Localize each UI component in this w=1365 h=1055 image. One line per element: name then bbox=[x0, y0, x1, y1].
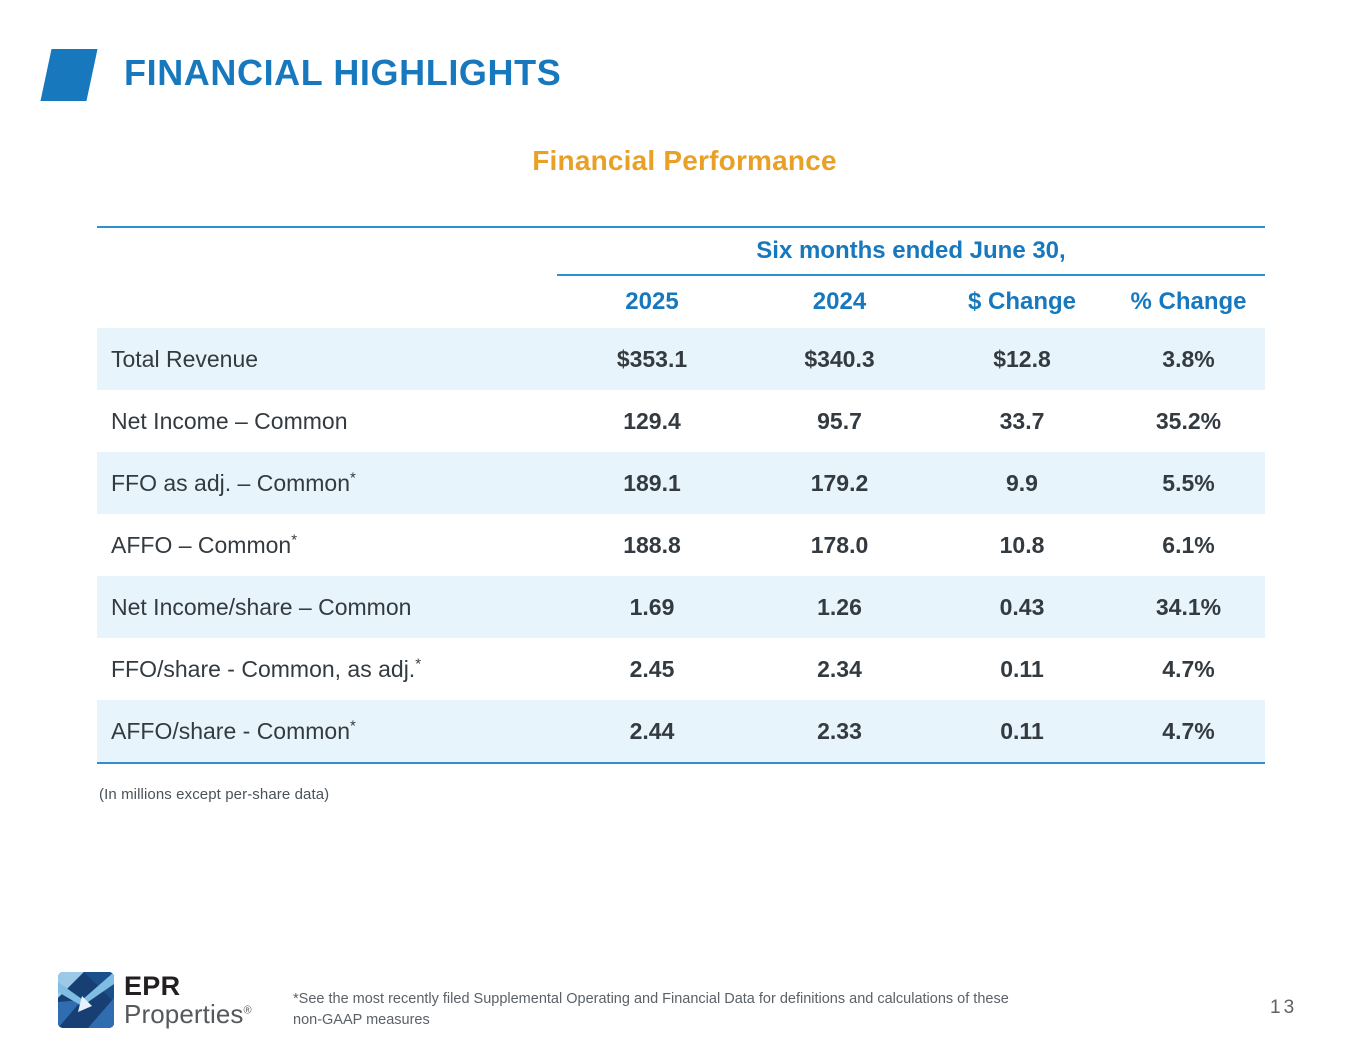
cell-dollar-change: 0.11 bbox=[932, 656, 1112, 683]
footnote-marker: * bbox=[350, 717, 356, 734]
cell-2025: 1.69 bbox=[557, 594, 747, 621]
cell-percent-change: 4.7% bbox=[1112, 656, 1265, 683]
cell-2024: 95.7 bbox=[747, 408, 932, 435]
cell-2025: 188.8 bbox=[557, 532, 747, 559]
table-column-header-row: 2025 2024 $ Change % Change bbox=[97, 276, 1265, 328]
row-label: AFFO/share - Common* bbox=[97, 718, 557, 745]
table-body: Total Revenue$353.1$340.3$12.83.8%Net In… bbox=[97, 328, 1265, 762]
cell-dollar-change: $12.8 bbox=[932, 346, 1112, 373]
column-header-percent-change: % Change bbox=[1112, 288, 1265, 316]
epr-logo-secondary-text: Properties bbox=[124, 999, 244, 1029]
cell-2025: 2.45 bbox=[557, 656, 747, 683]
row-label: AFFO – Common* bbox=[97, 532, 557, 559]
page-number: 13 bbox=[1270, 997, 1297, 1019]
footnote-marker: * bbox=[350, 469, 356, 486]
cell-2024: 1.26 bbox=[747, 594, 932, 621]
cell-dollar-change: 0.11 bbox=[932, 718, 1112, 745]
epr-logo-mark-icon bbox=[58, 972, 114, 1028]
units-note: (In millions except per-share data) bbox=[99, 786, 329, 803]
row-label: Net Income – Common bbox=[97, 408, 557, 435]
cell-percent-change: 35.2% bbox=[1112, 408, 1265, 435]
footnote-marker: * bbox=[415, 655, 421, 672]
cell-2024: 2.34 bbox=[747, 656, 932, 683]
section-subtitle: Financial Performance bbox=[0, 145, 1365, 177]
financial-performance-table: Six months ended June 30, 2025 2024 $ Ch… bbox=[97, 226, 1265, 764]
footnote-marker: * bbox=[291, 531, 297, 548]
epr-logo-primary: EPR bbox=[124, 971, 180, 1001]
cell-2025: 129.4 bbox=[557, 408, 747, 435]
registered-mark-icon: ® bbox=[244, 1004, 252, 1016]
row-label: Net Income/share – Common bbox=[97, 594, 557, 621]
table-span-header-band: Six months ended June 30, bbox=[97, 228, 1265, 274]
row-label: FFO as adj. – Common* bbox=[97, 470, 557, 497]
table-row: AFFO/share - Common*2.442.330.114.7% bbox=[97, 700, 1265, 762]
cell-dollar-change: 0.43 bbox=[932, 594, 1112, 621]
cell-percent-change: 5.5% bbox=[1112, 470, 1265, 497]
slide-header: FINANCIAL HIGHLIGHTS bbox=[0, 42, 1365, 104]
cell-percent-change: 3.8% bbox=[1112, 346, 1265, 373]
cell-2024: 2.33 bbox=[747, 718, 932, 745]
cell-2024: 178.0 bbox=[747, 532, 932, 559]
cell-dollar-change: 33.7 bbox=[932, 408, 1112, 435]
epr-logo-secondary: Properties® bbox=[124, 999, 252, 1029]
epr-logo-wordmark: EPR Properties® bbox=[124, 972, 252, 1029]
cell-2025: 189.1 bbox=[557, 470, 747, 497]
footer-disclaimer-line1: *See the most recently filed Supplementa… bbox=[293, 991, 953, 1007]
table-row: FFO as adj. – Common*189.1179.29.95.5% bbox=[97, 452, 1265, 514]
cell-dollar-change: 9.9 bbox=[932, 470, 1112, 497]
column-header-2025: 2025 bbox=[557, 288, 747, 316]
table-row: Net Income – Common129.495.733.735.2% bbox=[97, 390, 1265, 452]
cell-2025: $353.1 bbox=[557, 346, 747, 373]
column-header-2024: 2024 bbox=[747, 288, 932, 316]
page-title: FINANCIAL HIGHLIGHTS bbox=[124, 42, 561, 104]
cell-2025: 2.44 bbox=[557, 718, 747, 745]
epr-properties-logo: EPR Properties® bbox=[58, 972, 248, 1030]
cell-2024: 179.2 bbox=[747, 470, 932, 497]
table-row: FFO/share - Common, as adj.*2.452.340.11… bbox=[97, 638, 1265, 700]
row-label: FFO/share - Common, as adj.* bbox=[97, 656, 557, 683]
cell-percent-change: 6.1% bbox=[1112, 532, 1265, 559]
section-subtitle-text: Financial Performance bbox=[532, 145, 837, 177]
cell-2024: $340.3 bbox=[747, 346, 932, 373]
table-bottom-rule bbox=[97, 762, 1265, 764]
cell-dollar-change: 10.8 bbox=[932, 532, 1112, 559]
table-span-rule bbox=[557, 274, 1265, 276]
table-row: AFFO – Common*188.8178.010.86.1% bbox=[97, 514, 1265, 576]
cell-percent-change: 4.7% bbox=[1112, 718, 1265, 745]
table-span-header: Six months ended June 30, bbox=[557, 228, 1265, 274]
accent-parallelogram-icon bbox=[40, 49, 97, 101]
row-label: Total Revenue bbox=[97, 346, 557, 373]
table-row: Net Income/share – Common1.691.260.4334.… bbox=[97, 576, 1265, 638]
column-header-dollar-change: $ Change bbox=[932, 288, 1112, 316]
footer-disclaimer: *See the most recently filed Supplementa… bbox=[293, 989, 1033, 1031]
table-row: Total Revenue$353.1$340.3$12.83.8% bbox=[97, 328, 1265, 390]
cell-percent-change: 34.1% bbox=[1112, 594, 1265, 621]
